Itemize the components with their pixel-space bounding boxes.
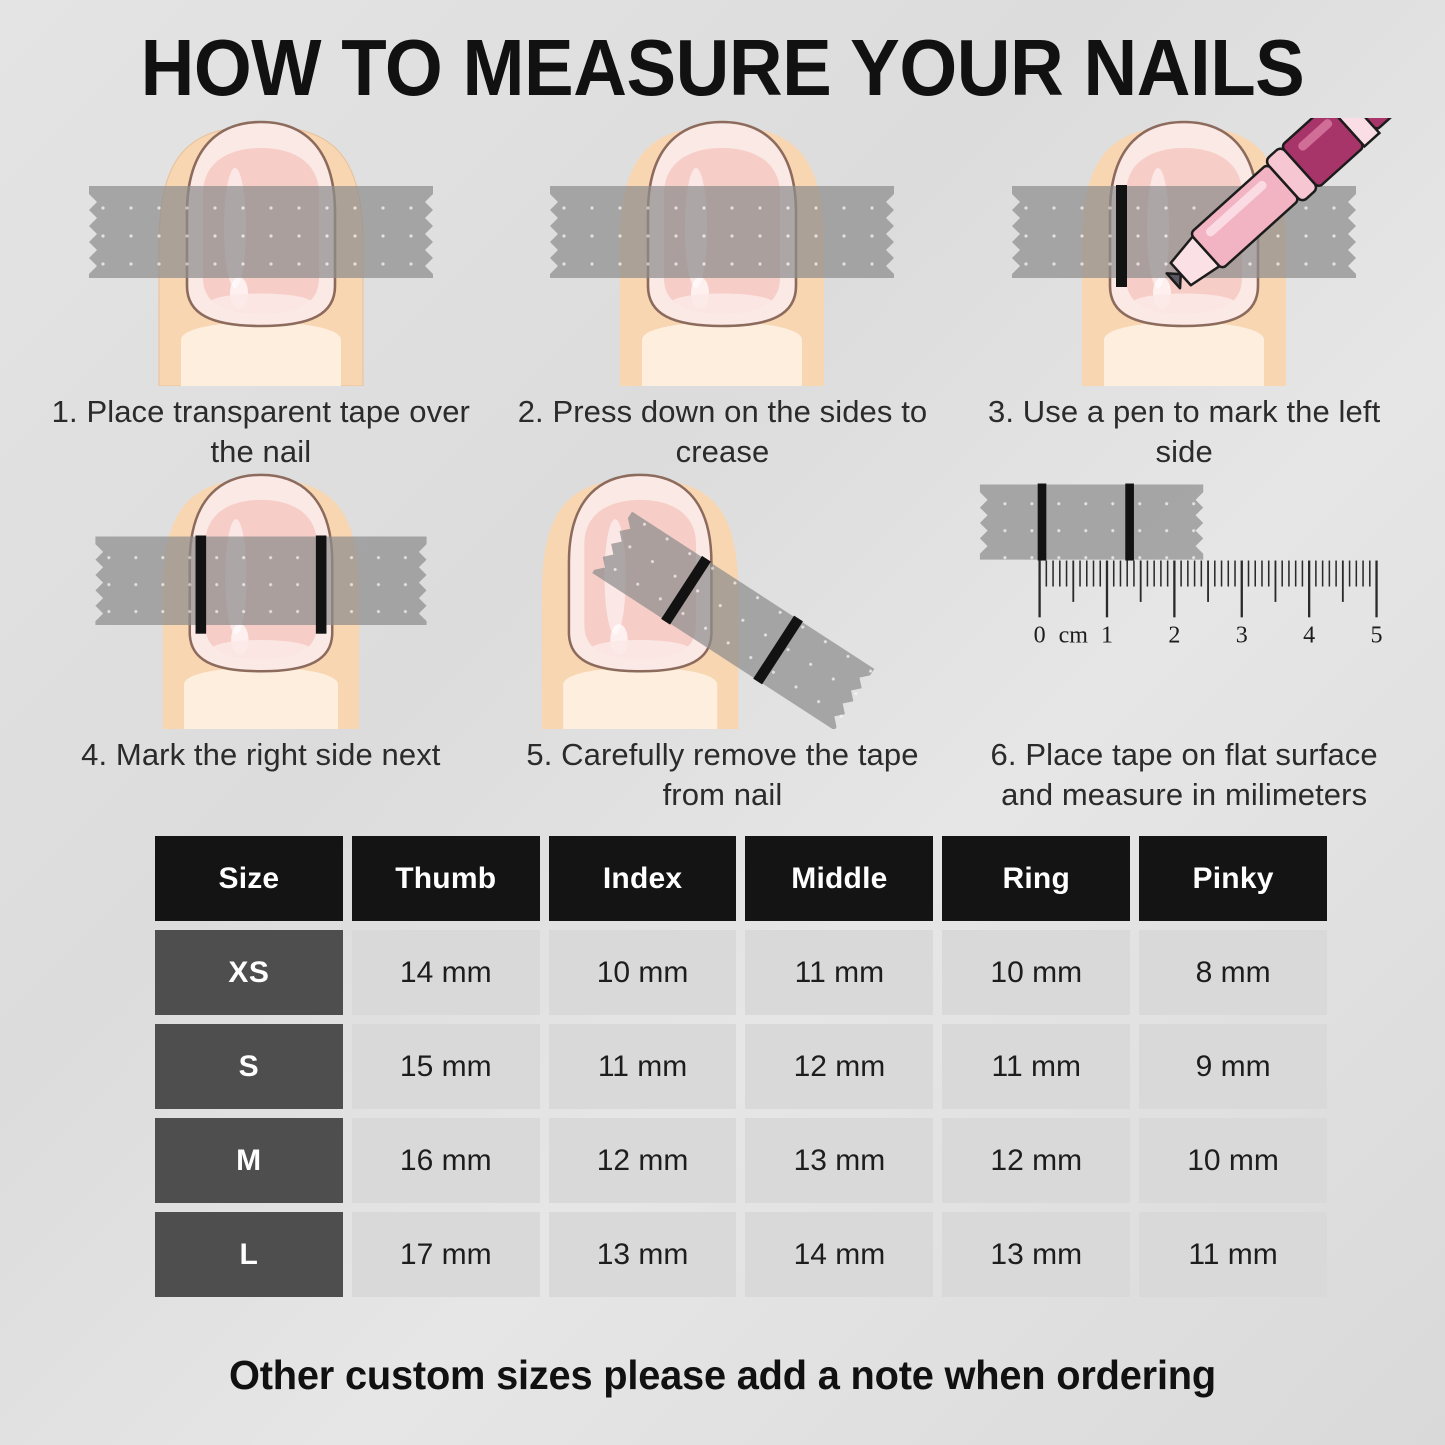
table-header-ring: Ring	[942, 836, 1130, 921]
finger-tape-creased-icon	[502, 118, 942, 386]
left-mark	[195, 536, 206, 634]
left-mark	[1038, 484, 1047, 561]
table-header-middle: Middle	[745, 836, 933, 921]
infographic-page: HOW TO MEASURE YOUR NAILS	[0, 0, 1445, 1445]
table-cell-m-middle: 13 mm	[745, 1118, 933, 1203]
step-5: 5. Carefully remove the tape from nail	[492, 471, 954, 814]
step-1-illustration	[41, 118, 481, 386]
table-header-size: Size	[155, 836, 343, 921]
table-cell-m-pinky: 10 mm	[1139, 1118, 1327, 1203]
svg-text:3: 3	[1236, 623, 1248, 649]
step-4-illustration	[41, 471, 481, 729]
table-cell-s-thumb: 15 mm	[352, 1024, 540, 1109]
finger-tape-pen-icon	[964, 118, 1404, 386]
table-cell-m-thumb: 16 mm	[352, 1118, 540, 1203]
step-6-illustration: 0 cm 1 2 3 4 5	[964, 471, 1404, 729]
table-cell-s-ring: 11 mm	[942, 1024, 1130, 1109]
table-cell-xs-pinky: 8 mm	[1139, 930, 1327, 1015]
page-title: HOW TO MEASURE YOUR NAILS	[51, 22, 1395, 114]
step-4: 4. Mark the right side next	[30, 471, 492, 814]
ruler-ticks	[1040, 561, 1377, 618]
step-2-caption: 2. Press down on the sides to crease	[507, 392, 937, 471]
step-3-illustration	[964, 118, 1404, 386]
step-4-caption: 4. Mark the right side next	[46, 735, 476, 775]
step-6: 0 cm 1 2 3 4 5 6. Place tape on flat sur…	[953, 471, 1415, 814]
table-cell-xs-thumb: 14 mm	[352, 930, 540, 1015]
table-cell-l-pinky: 11 mm	[1139, 1212, 1327, 1297]
table-cell-s-index: 11 mm	[549, 1024, 737, 1109]
step-5-illustration	[502, 471, 942, 729]
step-2: 2. Press down on the sides to crease	[492, 118, 954, 471]
table-header-index: Index	[549, 836, 737, 921]
right-mark	[1125, 484, 1134, 561]
step-5-caption: 5. Carefully remove the tape from nail	[507, 735, 937, 814]
tape-strip	[95, 537, 426, 626]
table-cell-xs-ring: 10 mm	[942, 930, 1130, 1015]
steps-grid: 1. Place transparent tape over the nail	[30, 118, 1415, 815]
size-table: Size Thumb Index Middle Ring Pinky XS 14…	[155, 836, 1327, 1297]
finger-tape-plain-icon	[41, 118, 481, 386]
svg-text:0: 0	[1034, 623, 1046, 649]
tape-strip	[89, 186, 433, 278]
table-cell-s-middle: 12 mm	[745, 1024, 933, 1109]
step-2-illustration	[502, 118, 942, 386]
svg-text:1: 1	[1101, 623, 1113, 649]
table-cell-l-index: 13 mm	[549, 1212, 737, 1297]
table-cell-xs-index: 10 mm	[549, 930, 737, 1015]
step-6-caption: 6. Place tape on flat surface and measur…	[969, 735, 1399, 814]
step-1: 1. Place transparent tape over the nail	[30, 118, 492, 471]
svg-text:cm: cm	[1059, 623, 1089, 649]
svg-text:2: 2	[1169, 623, 1181, 649]
step-1-caption: 1. Place transparent tape over the nail	[46, 392, 476, 471]
right-mark	[316, 536, 327, 634]
left-mark	[1116, 185, 1127, 287]
table-cell-m-ring: 12 mm	[942, 1118, 1130, 1203]
tape-on-ruler-icon: 0 cm 1 2 3 4 5	[964, 471, 1404, 729]
table-cell-l-ring: 13 mm	[942, 1212, 1130, 1297]
table-cell-l-thumb: 17 mm	[352, 1212, 540, 1297]
svg-text:4: 4	[1303, 623, 1315, 649]
finger-tape-peeled-icon	[502, 471, 942, 729]
finger-tape-two-marks-icon	[41, 471, 481, 729]
ruler-labels: 0 cm 1 2 3 4 5	[1034, 623, 1383, 649]
table-header-pinky: Pinky	[1139, 836, 1327, 921]
table-row-size-m: M	[155, 1118, 343, 1203]
table-row-size-l: L	[155, 1212, 343, 1297]
table-cell-s-pinky: 9 mm	[1139, 1024, 1327, 1109]
footer-note: Other custom sizes please add a note whe…	[22, 1352, 1424, 1399]
table-cell-m-index: 12 mm	[549, 1118, 737, 1203]
tape-strip	[550, 186, 894, 278]
table-header-thumb: Thumb	[352, 836, 540, 921]
table-row-size-s: S	[155, 1024, 343, 1109]
step-3-caption: 3. Use a pen to mark the left side	[969, 392, 1399, 471]
tape-strip	[980, 485, 1203, 560]
table-cell-l-middle: 14 mm	[745, 1212, 933, 1297]
svg-text:5: 5	[1371, 623, 1383, 649]
step-3: 3. Use a pen to mark the left side	[953, 118, 1415, 471]
table-cell-xs-middle: 11 mm	[745, 930, 933, 1015]
table-row-size-xs: XS	[155, 930, 343, 1015]
